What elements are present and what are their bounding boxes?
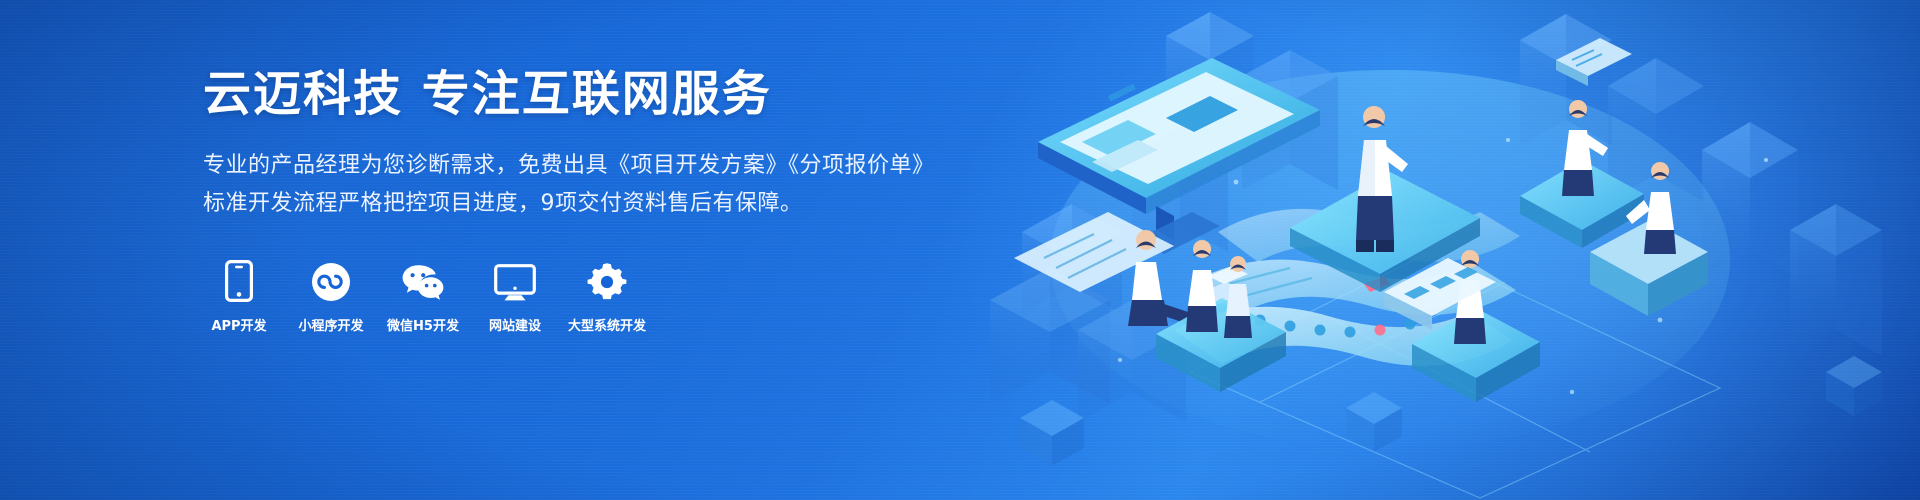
mini-program-icon: [311, 260, 351, 302]
banner-subtitle: 专业的产品经理为您诊断需求，免费出具《项目开发方案》《分项报价单》 标准开发流程…: [203, 147, 923, 223]
service-label-wechat: 微信H5开发: [387, 315, 459, 334]
service-item-app[interactable]: APP开发: [203, 260, 275, 334]
banner-headline: 云迈科技 专注互联网服务: [203, 68, 923, 121]
promo-banner: 云迈科技 专注互联网服务 专业的产品经理为您诊断需求，免费出具《项目开发方案》《…: [0, 0, 1920, 500]
service-label-website: 网站建设: [489, 315, 541, 334]
desktop-monitor-icon: [494, 260, 536, 302]
service-item-system[interactable]: 大型系统开发: [571, 260, 643, 334]
subtitle-line-1: 专业的产品经理为您诊断需求，免费出具《项目开发方案》《分项报价单》: [203, 147, 923, 185]
service-item-wechat[interactable]: 微信H5开发: [387, 260, 459, 334]
service-label-app: APP开发: [211, 315, 266, 334]
subtitle-line-2: 标准开发流程严格把控项目进度，9项交付资料售后有保障。: [203, 185, 923, 223]
gear-icon: [587, 260, 627, 302]
banner-content: 云迈科技 专注互联网服务 专业的产品经理为您诊断需求，免费出具《项目开发方案》《…: [203, 68, 923, 334]
mobile-phone-icon: [225, 260, 253, 302]
service-label-system: 大型系统开发: [568, 315, 646, 334]
service-icon-row: APP开发 小程序开发: [203, 260, 923, 334]
service-item-miniprogram[interactable]: 小程序开发: [295, 260, 367, 334]
wechat-icon: [401, 260, 445, 302]
isometric-illustration: [960, 0, 1920, 500]
service-item-website[interactable]: 网站建设: [479, 260, 551, 334]
service-label-miniprogram: 小程序开发: [298, 315, 363, 334]
